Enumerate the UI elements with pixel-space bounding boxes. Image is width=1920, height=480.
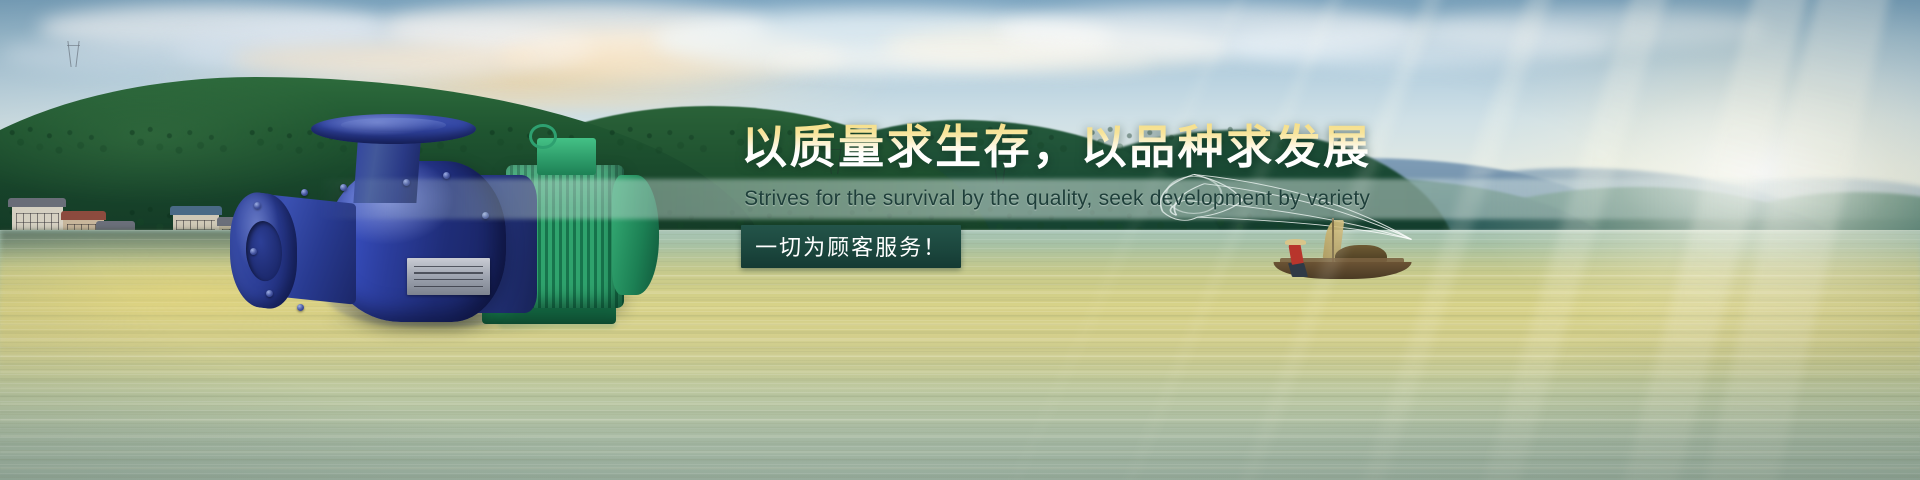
flange-bolt-icon [297,304,304,311]
power-pylon-icon [69,41,78,67]
subtitle-band: Strives for the survival by the quality,… [741,183,1624,215]
cloud-icon [0,37,269,73]
flange-bolt-icon [266,290,273,297]
centrifugal-pump-product [238,106,632,336]
banner-text-block: 以质量求生存，以品种求发展 Strives for the survival b… [741,120,1624,268]
motor-lifting-eye-icon [529,124,557,149]
pump-discharge-flange [311,114,476,144]
pump-nameplate [407,258,490,295]
service-slogan-badge: 一切为顾客服务！ [741,225,961,268]
cloud-icon [1421,9,1767,49]
hero-banner: 以质量求生存，以品种求发展 Strives for the survival b… [0,0,1920,480]
banner-subtitle: Strives for the survival by the quality,… [744,187,1624,211]
banner-headline: 以质量求生存，以品种求发展 [741,120,1624,174]
flange-bolt-icon [301,189,308,196]
cloud-icon [768,46,1152,76]
cloud-icon [230,44,537,74]
